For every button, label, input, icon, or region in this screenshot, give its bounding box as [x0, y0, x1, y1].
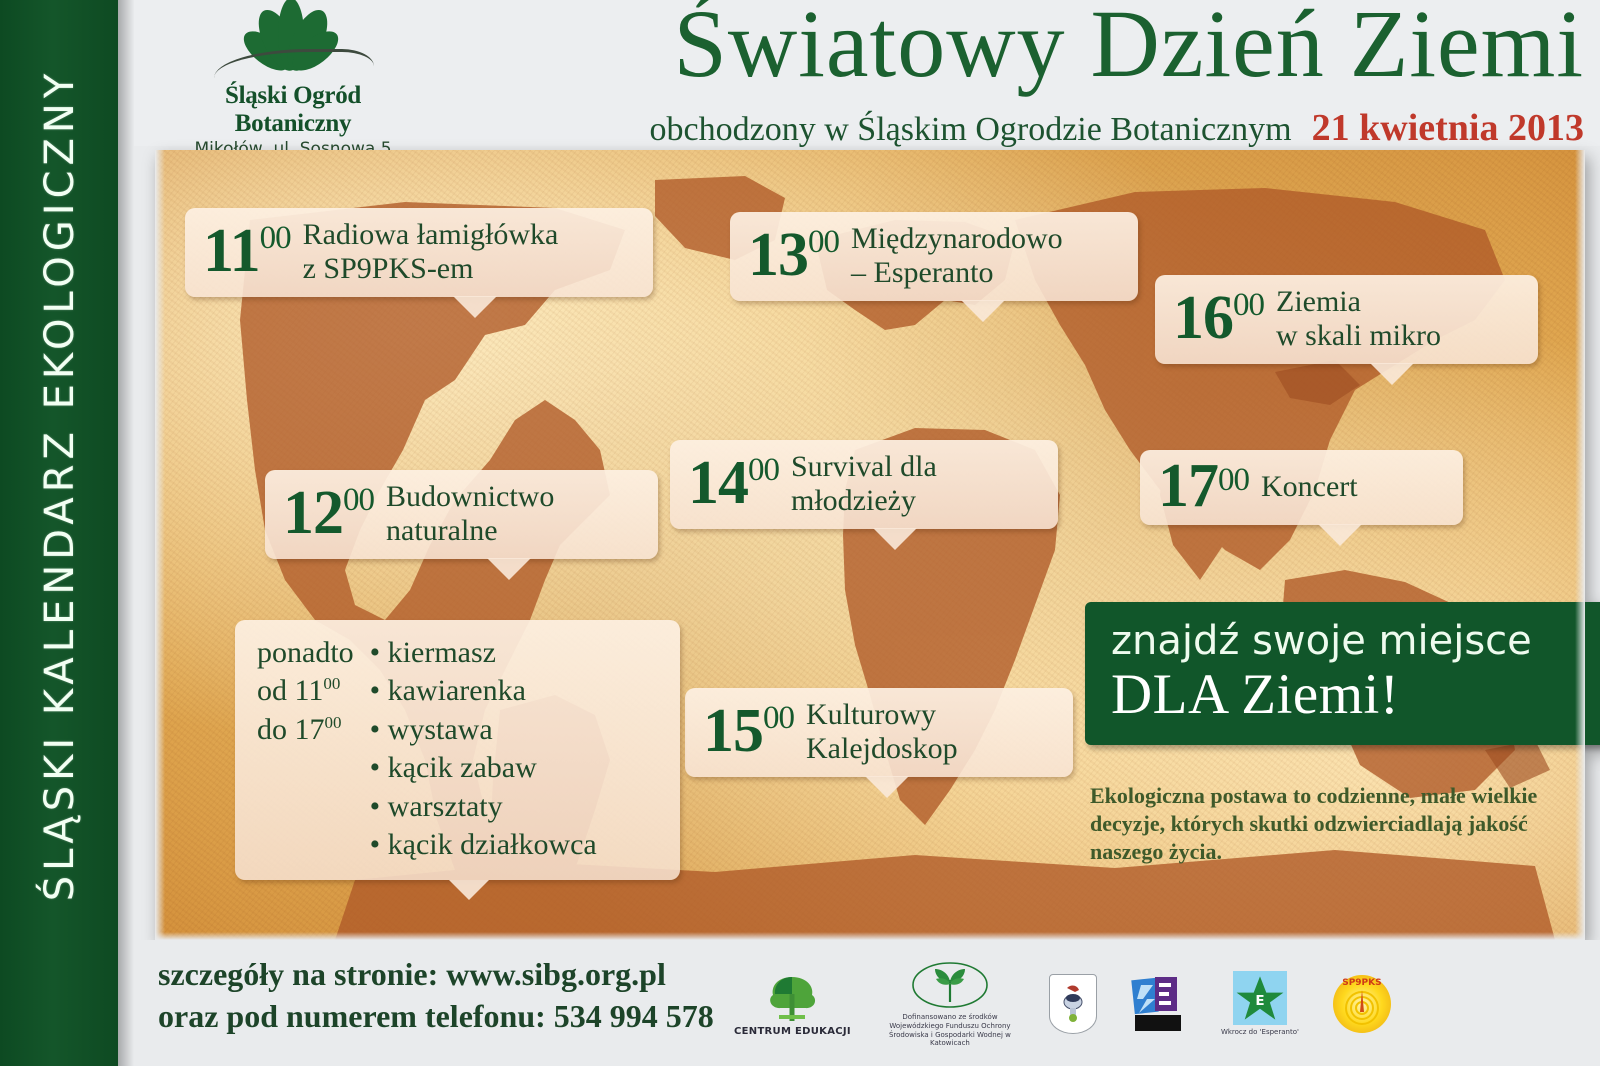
tree-icon [761, 969, 823, 1023]
subtitle-row: obchodzony w Śląskim Ogrodzie Botaniczny… [424, 106, 1584, 150]
partner-logo-blue [1131, 975, 1187, 1033]
svg-text:E: E [1255, 993, 1264, 1009]
page-title: Światowy Dzień Ziemi [424, 0, 1584, 95]
partner-logo-esperanto: E Wkrocz do 'Esperanto' [1221, 971, 1299, 1037]
green-star-icon: E [1233, 971, 1287, 1025]
header: Śląski Ogród Botaniczny Mikołów, ul. Sos… [134, 0, 1600, 146]
sp9pks-label: SP9PKS [1342, 978, 1381, 988]
partner-logo-mikolow [1049, 974, 1097, 1034]
partner-logo-wfosigw: Dofinansowano ze środków Wojewódzkiego F… [885, 960, 1015, 1048]
event-date: 21 kwietnia 2013 [1312, 107, 1584, 149]
contact-website: szczegóły na stronie: www.sibg.org.pl [158, 954, 714, 996]
leaf-oval-icon [911, 960, 989, 1010]
event-subtitle: obchodzony w Śląskim Ogrodzie Botaniczny… [650, 111, 1292, 148]
poster-root: ŚLĄSKI KALENDARZ EKOLOGICZNY Śląski Ogró… [0, 0, 1600, 1066]
spine-shadow [118, 0, 134, 1066]
radio-club-icon: SP9PKS [1333, 975, 1391, 1033]
world-map-panel: 11 00 Radiowa łamigłówkaz SP9PKS-em 13 0… [155, 150, 1585, 940]
sibg-logo: Śląski Ogród Botaniczny Mikołów, ul. Sos… [168, 2, 418, 142]
partner-logos: CENTRUM EDUKACJI Dofinansowano ze środkó… [734, 944, 1594, 1064]
sibg-logo-name: Śląski Ogród Botaniczny [168, 82, 418, 138]
partner-caption: Wkrocz do 'Esperanto' [1221, 1028, 1299, 1037]
coat-of-arms-icon [1049, 974, 1097, 1034]
partner-caption: Dofinansowano ze środków Wojewódzkiego F… [885, 1013, 1015, 1048]
spine-label: ŚLĄSKI KALENDARZ EKOLOGICZNY [37, 0, 83, 985]
blue-block-icon [1131, 975, 1187, 1033]
left-spine: ŚLĄSKI KALENDARZ EKOLOGICZNY [0, 0, 118, 1066]
contact-info: szczegóły na stronie: www.sibg.org.pl or… [158, 954, 714, 1037]
contact-phone: oraz pod numerem telefonu: 534 994 578 [158, 996, 714, 1038]
footer: szczegóły na stronie: www.sibg.org.pl or… [134, 940, 1600, 1066]
partner-logo-centrum-edukacji: CENTRUM EDUKACJI [734, 969, 851, 1039]
partner-logo-sp9pks: SP9PKS [1333, 975, 1391, 1033]
leaves-icon [208, 2, 378, 78]
torn-edges [155, 150, 1585, 940]
partner-caption: CENTRUM EDUKACJI [734, 1026, 851, 1039]
